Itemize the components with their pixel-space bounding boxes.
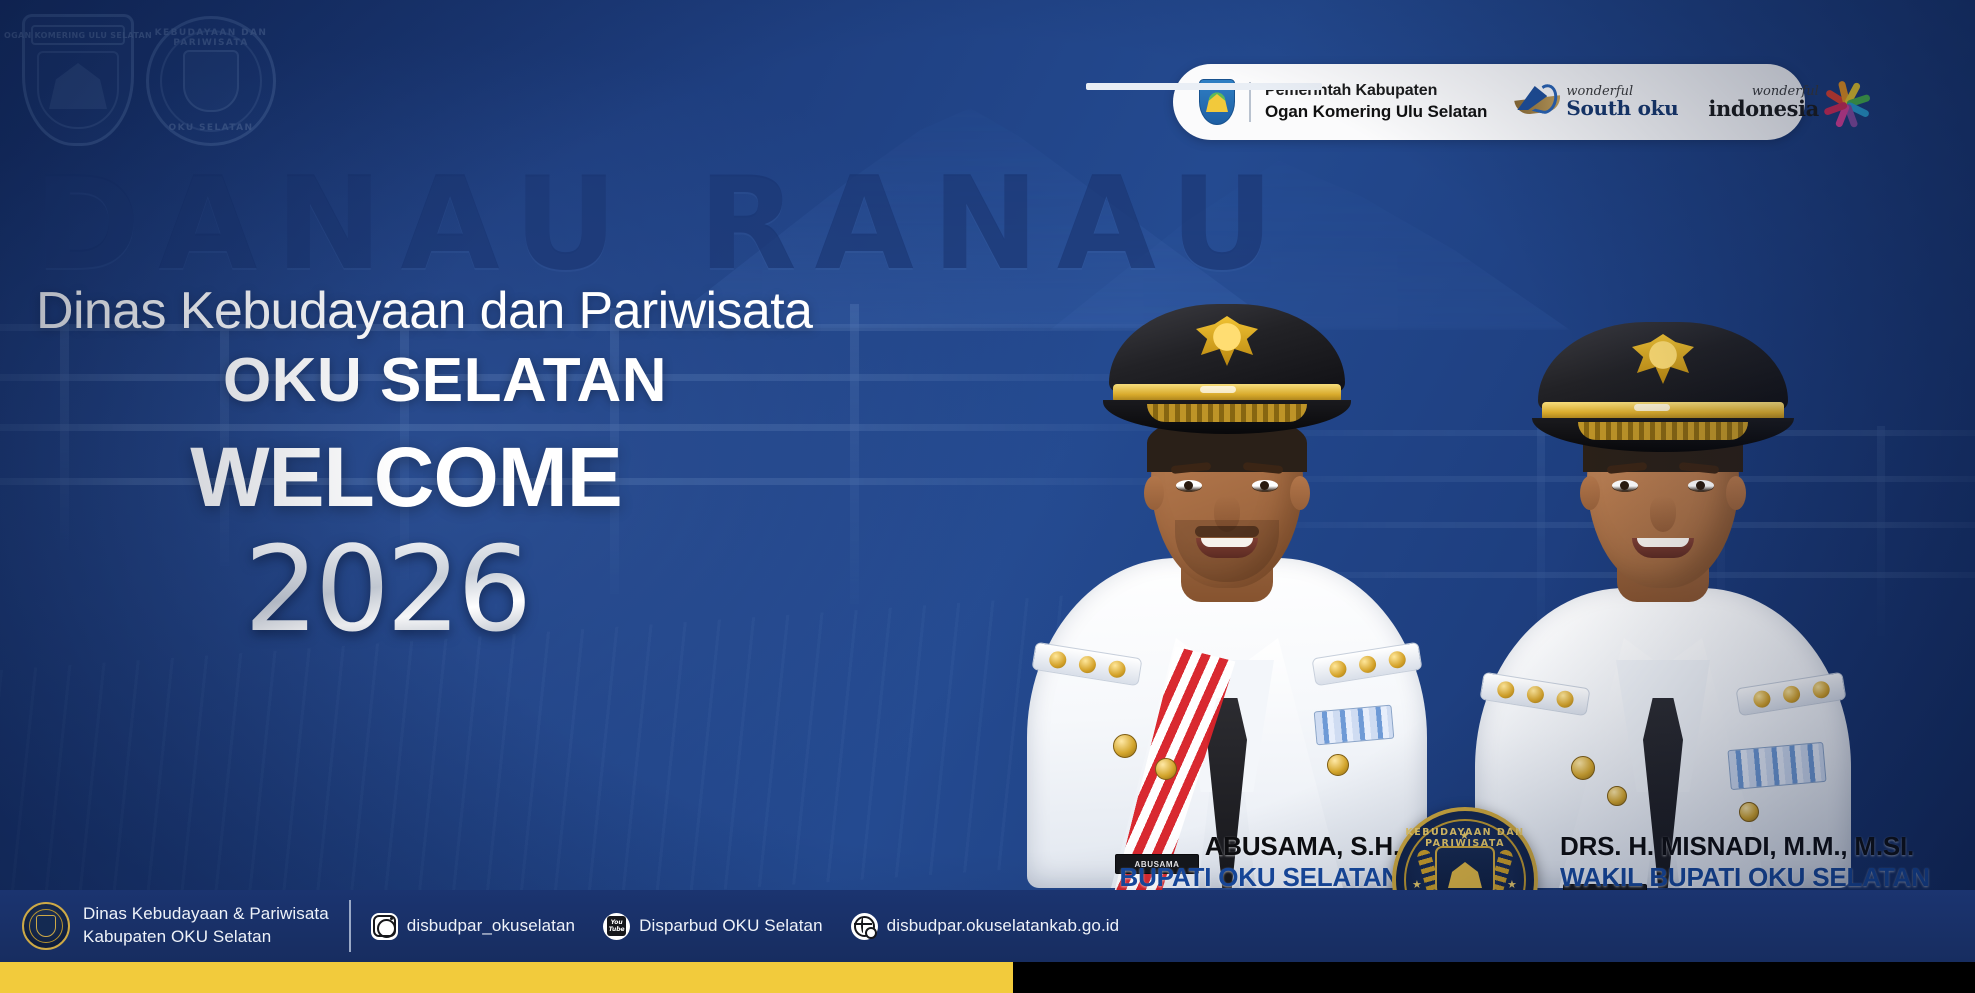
danau-ranau-watermark: DANAU RANAU — [34, 150, 1154, 299]
website-url[interactable]: disbudpar.okuselatankab.go.id — [887, 916, 1120, 936]
bottom-bar-black — [1013, 962, 1975, 993]
regency-shield-icon — [1199, 79, 1235, 125]
social-website[interactable]: disbudpar.okuselatankab.go.id — [851, 913, 1120, 940]
portrait-bupati: ABUSAMA — [1012, 168, 1442, 888]
wonderful-indonesia-logo: wonderful indonesia — [1708, 79, 1874, 125]
year-text: 2026 — [36, 530, 896, 648]
footer-bar: Dinas Kebudayaan & Pariwisata Kabupaten … — [0, 890, 1975, 962]
portrait-wakil-bupati: MISNADI — [1448, 198, 1878, 888]
youtube-icon[interactable]: YouTube — [603, 913, 630, 940]
indonesia-swirl-icon — [1823, 79, 1875, 125]
south-oku-wave-icon — [1515, 82, 1561, 122]
bottom-bar-yellow — [0, 962, 1013, 993]
footer-organization: Dinas Kebudayaan & Pariwisata Kabupaten … — [83, 903, 329, 949]
seal-watermark-bottom-label: OKU SELATAN — [149, 123, 273, 133]
social-youtube[interactable]: YouTube Disparbud OKU Selatan — [603, 913, 823, 940]
instagram-icon[interactable] — [371, 913, 398, 940]
disbudpar-seal-watermark: KEBUDAYAAN DAN PARIWISATA OKU SELATAN — [146, 16, 276, 146]
instagram-handle[interactable]: disbudpar_okuselatan — [407, 916, 575, 936]
nameplate-wakil-bupati: DRS. H. MISNADI, M.M., M.SI. WAKIL BUPAT… — [1560, 831, 1960, 893]
headline-block: Dinas Kebudayaan dan Pariwisata OKU SELA… — [36, 282, 896, 648]
nameplate-bupati: ABUSAMA, S.H. BUPATI OKU SELATAN — [1040, 831, 1400, 893]
wakil-bupati-name: DRS. H. MISNADI, M.M., M.SI. — [1560, 831, 1960, 862]
bupati-name: ABUSAMA, S.H. — [1040, 831, 1400, 862]
youtube-glyph-bottom: Tube — [609, 926, 625, 933]
partner-logo-bar: Pemerintah Kabupaten Ogan Komering Ulu S… — [1173, 64, 1805, 140]
wonderful-south-oku-logo: wonderful South oku — [1515, 82, 1678, 122]
indonesia-bottom-word: indonesia — [1708, 98, 1818, 119]
government-line-2: Ogan Komering Ulu Selatan — [1265, 101, 1487, 123]
footer-org-line-2: Kabupaten OKU Selatan — [83, 926, 329, 949]
regency-crest-watermark: OGAN KOMERING ULU SELATAN — [22, 14, 134, 146]
social-instagram[interactable]: disbudpar_okuselatan — [371, 913, 575, 940]
regency-crest-band-label: OGAN KOMERING ULU SELATAN — [31, 25, 125, 45]
wakil-bupati-role: WAKIL BUPATI OKU SELATAN — [1560, 862, 1960, 893]
footer-org-line-1: Dinas Kebudayaan & Pariwisata — [83, 903, 329, 926]
page-title: OKU SELATAN — [36, 345, 896, 417]
website-icon[interactable] — [851, 913, 878, 940]
youtube-channel[interactable]: Disparbud OKU Selatan — [639, 916, 823, 936]
peaked-cap — [1538, 322, 1788, 458]
service-ribbon-bar — [1727, 742, 1826, 790]
welcome-text: WELCOME — [36, 431, 896, 523]
peaked-cap — [1109, 304, 1345, 436]
footer-divider — [349, 900, 351, 952]
youtube-glyph-top: You — [611, 919, 623, 926]
welcome-banner: DANAU RANAU OGAN KOMERING ULU SELATAN KE… — [0, 0, 1975, 993]
south-oku-bottom-word: South oku — [1566, 98, 1678, 118]
seal-watermark-top-label: KEBUDAYAAN DAN PARIWISATA — [149, 28, 273, 48]
footer-seal-icon — [22, 902, 70, 950]
bupati-role: BUPATI OKU SELATAN — [1040, 862, 1400, 893]
service-ribbon-bar — [1314, 705, 1395, 746]
page-subtitle: Dinas Kebudayaan dan Pariwisata — [36, 282, 896, 341]
